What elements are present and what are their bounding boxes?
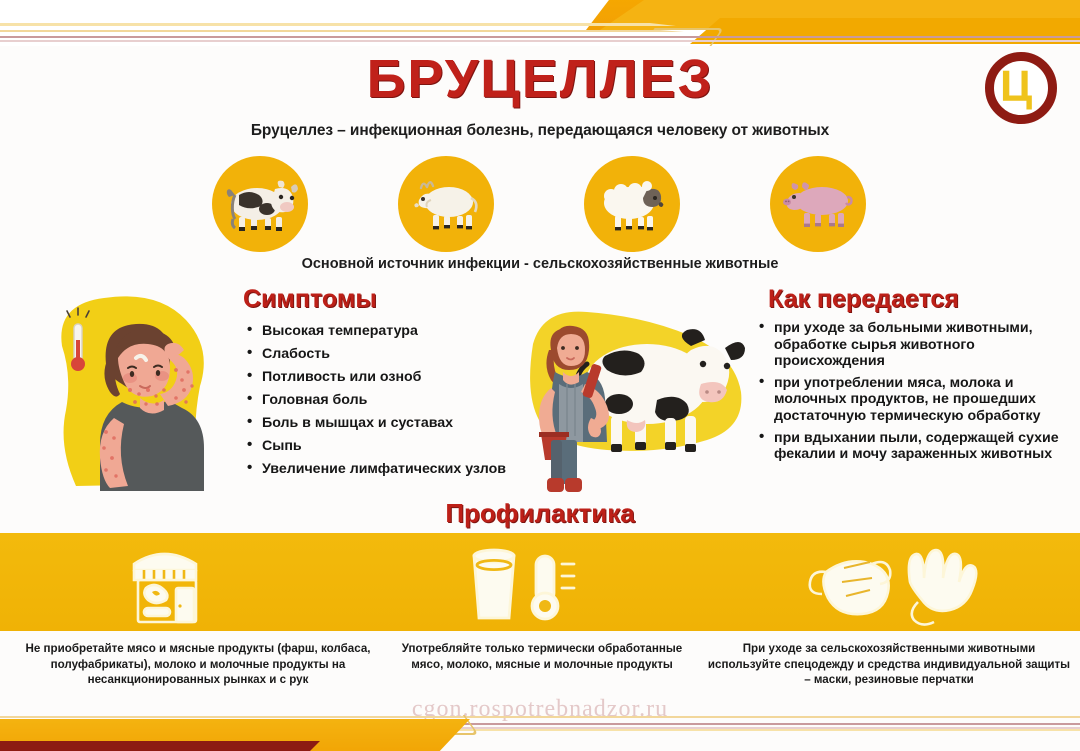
- brucellosis-infographic: БРУЦЕЛЛЕЗ Бруцеллез – инфекционная болез…: [0, 0, 1080, 751]
- bottom-decorative-banner: [0, 703, 1080, 751]
- prevention-caption-2: Употребляйте только термически обработан…: [392, 641, 692, 672]
- prevention-caption-1: Не приобретайте мясо и мясные продукты (…: [18, 641, 378, 688]
- mask-gloves-icon: [800, 538, 990, 626]
- prevention-caption-3: При уходе за сельскохозяйственными живот…: [706, 641, 1072, 688]
- list-item: Увеличение лимфатических узлов: [245, 461, 535, 478]
- animal-sources-row: [0, 156, 1080, 252]
- prevention-heading: Профилактика: [0, 498, 1080, 529]
- top-decorative-banner: [0, 0, 1080, 46]
- page-subtitle: Бруцеллез – инфекционная болезнь, переда…: [0, 122, 1080, 140]
- list-item: Потливость или озноб: [245, 369, 535, 386]
- symptoms-heading: Симптомы: [243, 285, 377, 314]
- animal-circle-background: [584, 156, 680, 252]
- bottom-line-1: [0, 716, 1080, 718]
- bottom-dark-red-block: [0, 741, 320, 751]
- pig-icon: [780, 175, 856, 233]
- banner-line-4: [0, 40, 1080, 42]
- milk-thermometer-graphic: [452, 538, 612, 626]
- banner-line-3: [0, 36, 1080, 38]
- list-item: при употреблении мяса, молока и молочных…: [757, 375, 1069, 425]
- sick-woman-illustration: [44, 286, 234, 491]
- transmission-heading: Как передается: [768, 285, 959, 314]
- animal-item-cow: [212, 156, 312, 252]
- animal-circle-background: [212, 156, 308, 252]
- butcher-shop-icon: [118, 538, 298, 626]
- milking-scene-graphic: [505, 288, 755, 496]
- animal-item-pig: [770, 156, 870, 252]
- milk-glass-thermometer-icon: [452, 538, 612, 626]
- goat-icon: [409, 174, 483, 234]
- logo-glyph: Ц: [1000, 67, 1042, 109]
- list-item: Сыпь: [245, 438, 535, 455]
- sick-woman-graphic: [44, 286, 234, 491]
- list-item: Боль в мышцах и суставах: [245, 415, 535, 432]
- sheep-icon: [595, 174, 669, 234]
- animal-circle-background: [770, 156, 866, 252]
- animal-item-goat: [398, 156, 498, 252]
- symptoms-list: Высокая температура Слабость Потливость …: [245, 323, 535, 484]
- list-item: при уходе за больными животными, обработ…: [757, 320, 1069, 370]
- list-item: Слабость: [245, 346, 535, 363]
- list-item: Головная боль: [245, 392, 535, 409]
- animal-source-caption: Основной источник инфекции - сельскохозя…: [0, 256, 1080, 272]
- rospotrebnadzor-logo-icon: Ц: [985, 52, 1057, 124]
- cow-icon: [221, 173, 299, 235]
- list-item: Высокая температура: [245, 323, 535, 340]
- transmission-list: при уходе за больными животными, обработ…: [757, 320, 1069, 468]
- list-item: при вдыхании пыли, содержащей сухие фека…: [757, 430, 1069, 463]
- milking-woman-cow-illustration: [505, 288, 755, 496]
- animal-circle-background: [398, 156, 494, 252]
- mask-gloves-graphic: [800, 538, 990, 626]
- animal-item-sheep: [584, 156, 684, 252]
- butcher-shop-graphic: [118, 538, 298, 626]
- page-title: БРУЦЕЛЛЕЗ: [0, 48, 1080, 110]
